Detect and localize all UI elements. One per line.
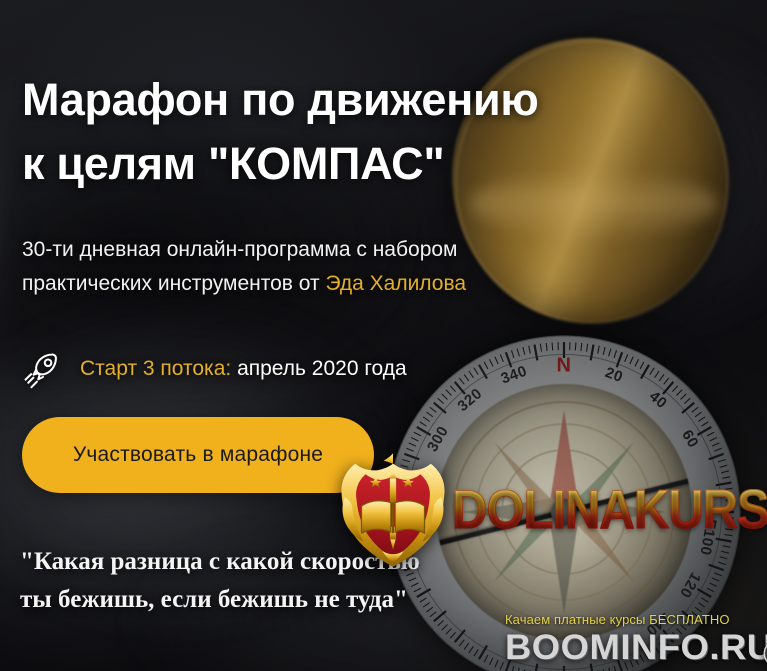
shield-book-pen-crest-icon [330,447,456,573]
quote-line-2: ты бежишь, если бежишь не туда" [20,581,440,619]
boominfo-domain: BOOMINFO.RU [505,630,767,667]
dolinakursov-wordmark: DOLINAKURSOV [452,483,767,538]
subtitle-author-link[interactable]: Эда Халилова [325,272,466,295]
start-date-text: Старт 3 потока: апрель 2020 года [80,356,407,381]
participate-button[interactable]: Участвовать в марафоне [22,417,374,493]
headline-line-2: к целям "КОМПАС" [22,132,712,196]
rocket-icon [20,347,64,391]
headline-line-1: Марафон по движению [22,74,539,125]
bomb-icon [757,626,767,670]
boominfo-tagline: Качаем платные курсы БЕСПЛАТНО [505,612,767,627]
start-date-row: Старт 3 потока: апрель 2020 года [20,347,407,391]
page-title: Марафон по движению к целям "КОМПАС" [22,68,712,196]
start-date-highlight: Старт 3 потока: [80,357,231,380]
promo-hero-banner: N204060E100120140280300320340 Марафон по… [0,0,767,671]
dolinakursov-watermark: DOLINAKURSOV [330,447,767,573]
boominfo-watermark: Качаем платные курсы БЕСПЛАТНО BOOMINFO.… [505,612,767,670]
start-date-value: апрель 2020 года [231,357,406,380]
subtitle: 30-ти дневная онлайн-программа с набором… [22,233,582,301]
